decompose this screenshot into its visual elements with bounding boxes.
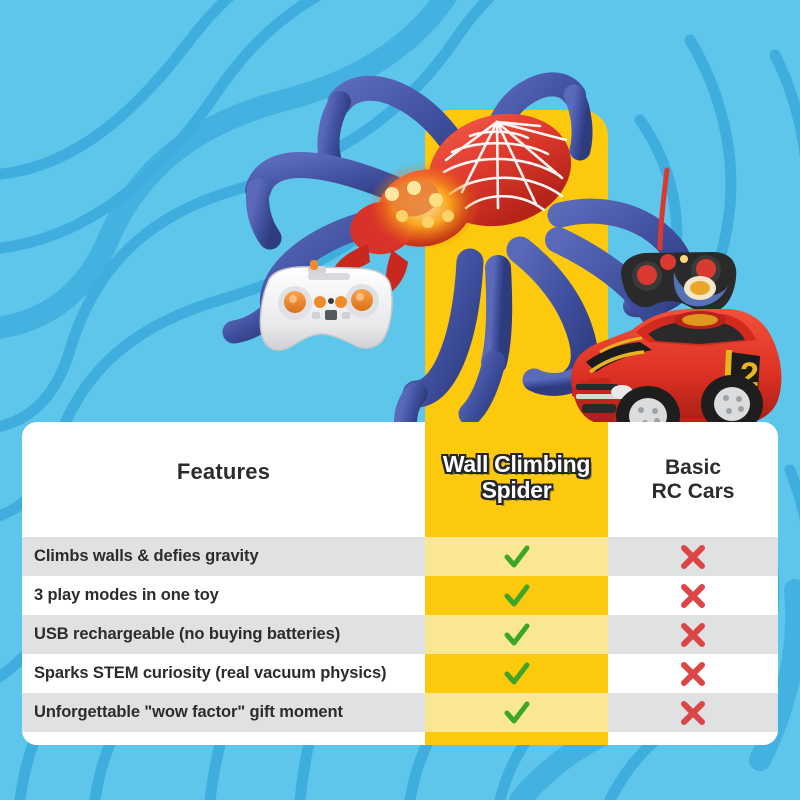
comparison-table-card: Features Wall Climbing Spider Basic RC C… (22, 422, 778, 745)
table-bottom-padding (22, 732, 778, 745)
check-icon (425, 654, 608, 693)
column-header-basic-line2: RC Cars (608, 480, 778, 504)
table-body: Climbs walls & defies gravity3 play mode… (22, 537, 778, 745)
cross-icon (608, 615, 778, 654)
feature-label: USB rechargeable (no buying batteries) (34, 615, 419, 654)
check-icon (425, 693, 608, 732)
check-icon (425, 576, 608, 615)
table-row: USB rechargeable (no buying batteries) (22, 615, 778, 654)
spider-column-footer (425, 732, 608, 745)
feature-label: 3 play modes in one toy (34, 576, 419, 615)
cross-icon (608, 537, 778, 576)
cross-icon (608, 576, 778, 615)
column-header-spider-line2: Spider (425, 478, 608, 504)
column-header-features: Features (22, 460, 425, 485)
feature-label: Climbs walls & defies gravity (34, 537, 419, 576)
table-row: 3 play modes in one toy (22, 576, 778, 615)
table-header-row: Features Wall Climbing Spider Basic RC C… (22, 422, 778, 537)
column-header-basic-line1: Basic (608, 456, 778, 480)
table-row: Unforgettable "wow factor" gift moment (22, 693, 778, 732)
cross-icon (608, 693, 778, 732)
column-header-basic: Basic RC Cars (608, 456, 778, 503)
cross-icon (608, 654, 778, 693)
table-row: Climbs walls & defies gravity (22, 537, 778, 576)
check-icon (425, 615, 608, 654)
check-icon (425, 537, 608, 576)
table-row: Sparks STEM curiosity (real vacuum physi… (22, 654, 778, 693)
feature-label: Unforgettable "wow factor" gift moment (34, 693, 419, 732)
column-header-spider: Wall Climbing Spider (425, 452, 608, 504)
feature-label: Sparks STEM curiosity (real vacuum physi… (34, 654, 419, 693)
comparison-infographic: 2 (0, 0, 800, 800)
column-header-spider-line1: Wall Climbing (425, 452, 608, 478)
